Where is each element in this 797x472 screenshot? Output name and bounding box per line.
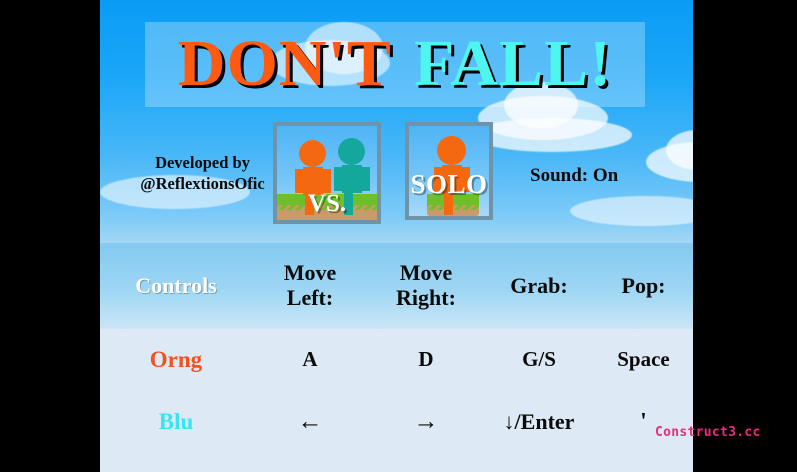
credit-line-2: @ReflextionsOfic — [120, 173, 285, 194]
letterbox-left — [0, 0, 100, 472]
key-grab: ↓/Enter — [484, 410, 594, 435]
table-row: Blu ← → ↓/Enter ' — [100, 391, 693, 453]
table-header-row: Controls Move Left: Move Right: Grab: Po… — [100, 243, 693, 329]
figure-body — [342, 165, 362, 193]
figure-head — [299, 140, 326, 167]
column-header-move-right: Move Right: — [368, 261, 484, 310]
column-header-controls: Controls — [100, 274, 252, 299]
figure-arm-right — [323, 169, 331, 193]
figure-head — [437, 136, 466, 165]
developer-credit: Developed by @ReflextionsOfic — [120, 152, 285, 194]
title-word-fall: FALL! — [414, 26, 612, 102]
sound-toggle[interactable]: Sound: On — [530, 165, 618, 187]
figure-arm-right — [462, 167, 470, 192]
figure-leg — [305, 194, 314, 215]
player-name-blu: Blu — [100, 409, 252, 435]
construct3-watermark[interactable]: Construct3.cc — [655, 425, 761, 440]
table-row: Orng A D G/S Space — [100, 329, 693, 391]
header-line-1: Move — [368, 261, 484, 286]
key-move-right: D — [368, 348, 484, 372]
figure-arm-left — [295, 169, 303, 193]
cloud-icon — [570, 196, 693, 226]
game-canvas: DON'T FALL! Developed by @ReflextionsOfi… — [100, 0, 693, 472]
key-pop: Space — [594, 348, 693, 372]
figure-leg — [444, 193, 453, 215]
header-line-1: Move — [252, 261, 368, 286]
header-line-2: Left: — [252, 286, 368, 311]
figure-arm-left — [334, 167, 342, 191]
header-line-2: Right: — [368, 286, 484, 311]
key-move-left: A — [252, 348, 368, 372]
game-screen: DON'T FALL! Developed by @ReflextionsOfi… — [0, 0, 797, 472]
figure-head — [338, 138, 365, 165]
column-header-grab: Grab: — [484, 274, 594, 299]
key-move-left: ← — [252, 408, 368, 436]
column-header-move-left: Move Left: — [252, 261, 368, 310]
figure-body — [442, 165, 462, 194]
cloud-icon — [472, 118, 632, 152]
column-header-pop: Pop: — [594, 274, 693, 299]
key-grab: G/S — [484, 348, 594, 372]
credit-line-1: Developed by — [120, 152, 285, 173]
player-name-orng: Orng — [100, 347, 252, 373]
page-title: DON'T FALL! — [145, 18, 645, 110]
controls-table: Controls Move Left: Move Right: Grab: Po… — [100, 243, 693, 472]
figure-arm-left — [434, 167, 442, 192]
versus-mode-button[interactable]: VS. — [273, 122, 381, 224]
letterbox-right — [693, 0, 797, 472]
solo-mode-button[interactable]: SOLO — [405, 122, 493, 220]
figure-body — [303, 167, 323, 195]
figure-arm-right — [362, 167, 370, 191]
title-word-dont: DON'T — [178, 26, 392, 102]
grass-ground — [427, 194, 479, 216]
key-move-right: → — [368, 408, 484, 436]
grass-ground — [277, 194, 377, 220]
figure-leg — [344, 192, 353, 215]
